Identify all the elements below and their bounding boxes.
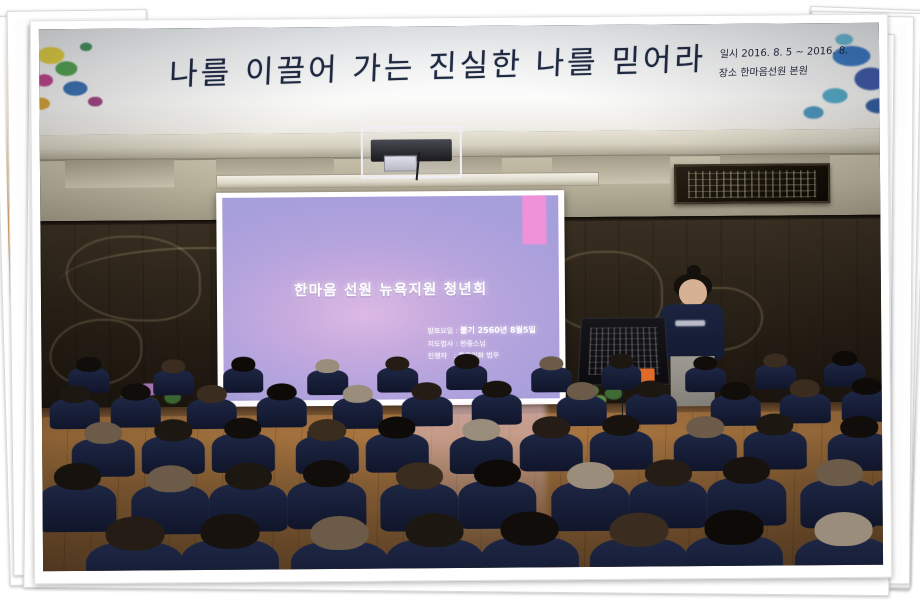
- audience-member: [592, 511, 687, 572]
- audience-member-head: [231, 357, 255, 371]
- audience-member: [796, 510, 883, 571]
- audience-member: [687, 508, 782, 571]
- audience-member-head: [224, 417, 262, 439]
- audience-member-head: [841, 416, 879, 438]
- audience-member-head: [474, 460, 521, 488]
- audience-group: [41, 348, 883, 571]
- audience-member-head: [308, 419, 346, 441]
- audience-member-head: [720, 382, 750, 400]
- audience-member-head: [455, 354, 479, 368]
- audience-member-head: [814, 512, 873, 547]
- audience-member-head: [833, 351, 857, 365]
- audience-member-head: [610, 512, 669, 547]
- audience-member-head: [790, 380, 820, 398]
- audience-member-head: [532, 416, 570, 438]
- audience-member-head: [385, 357, 409, 371]
- audience-member-head: [816, 459, 863, 487]
- audience-member-head: [266, 383, 296, 401]
- audience-member-head: [85, 422, 123, 444]
- audience-member-head: [723, 457, 770, 485]
- shirt-print-graphic: [676, 320, 705, 326]
- audience-member-head: [201, 514, 260, 549]
- audience-member-head: [225, 462, 272, 490]
- audience-member: [88, 515, 183, 572]
- audience-member: [473, 379, 522, 421]
- watercolor-splash-left-icon: [39, 37, 142, 120]
- audience-member: [292, 514, 387, 571]
- ceiling-vent: [65, 158, 174, 188]
- banner-headline-text: 나를 이끌어 가는 진실한 나를 믿어라: [169, 33, 708, 94]
- audience-member-head: [763, 354, 787, 368]
- audience-member-head: [539, 356, 563, 370]
- audience-member-head: [686, 416, 724, 438]
- audience-member-head: [310, 516, 369, 551]
- audience-member: [387, 511, 482, 571]
- banner-meta-text: 일시 2016. 8. 5 ~ 2016. 8. 장소 한마음선원 본원: [718, 43, 849, 84]
- audience-member-head: [54, 463, 101, 491]
- audience-member-head: [636, 380, 666, 398]
- carved-wall-plaque: [674, 163, 830, 204]
- audience-member-head: [645, 459, 692, 487]
- audience-member-head: [602, 414, 640, 436]
- audience-member-head: [315, 359, 339, 373]
- slide-title: 한마음 선원 뉴욕지원 청년회: [222, 278, 559, 302]
- audience-member-head: [197, 385, 227, 403]
- audience-member-head: [756, 414, 794, 436]
- slide-line-2-label: 지도법사: [428, 340, 454, 348]
- audience-member-head: [77, 357, 101, 371]
- audience-member-head: [500, 511, 559, 546]
- audience-member-head: [154, 419, 192, 441]
- audience-member-head: [121, 383, 151, 401]
- audience-member-head: [59, 385, 89, 403]
- presenter-head: [678, 279, 707, 307]
- audience-member-head: [693, 356, 717, 370]
- slide-line-1: 발표요일 : 불기 2560년 8월5일: [427, 323, 535, 338]
- ceiling-projector: [361, 126, 462, 178]
- projector-lens-icon: [384, 155, 417, 171]
- photograph: 나를 이끌어 가는 진실한 나를 믿어라 일시 2016. 8. 5 ~ 201…: [39, 23, 883, 572]
- audience-member-head: [566, 382, 596, 400]
- audience-member-head: [378, 417, 416, 439]
- audience-member-head: [161, 359, 185, 373]
- audience-member: [482, 509, 577, 571]
- slide-line-2-value: 한중스님: [460, 340, 486, 348]
- event-banner: 나를 이끌어 가는 진실한 나를 믿어라 일시 2016. 8. 5 ~ 201…: [39, 23, 880, 135]
- audience-member-head: [396, 462, 443, 490]
- photo-frame: 나를 이끌어 가는 진실한 나를 믿어라 일시 2016. 8. 5 ~ 201…: [30, 14, 892, 585]
- audience-member-head: [482, 380, 512, 398]
- audience-member-head: [609, 354, 633, 368]
- audience-member-head: [303, 460, 350, 488]
- audience-member-head: [147, 465, 194, 493]
- audience-member-head: [106, 516, 165, 551]
- slide-line-1-label: 발표요일: [427, 327, 453, 335]
- audience-member: [842, 376, 883, 418]
- audience-member-head: [405, 513, 464, 548]
- audience-member-head: [851, 377, 881, 395]
- sticky-note: [522, 196, 547, 245]
- audience-member-head: [567, 461, 614, 489]
- slide-line-2: 지도법사 : 한중스님: [428, 337, 536, 350]
- audience-member-head: [704, 510, 763, 545]
- slide-line-1-value: 불기 2560년 8월5일: [460, 325, 536, 335]
- audience-member-head: [342, 385, 372, 403]
- screenshot-root: 나를 이끌어 가는 진실한 나를 믿어라 일시 2016. 8. 5 ~ 201…: [0, 0, 920, 601]
- audience-member-head: [463, 419, 501, 441]
- audience-member-head: [412, 383, 442, 401]
- audience-member: [183, 512, 278, 571]
